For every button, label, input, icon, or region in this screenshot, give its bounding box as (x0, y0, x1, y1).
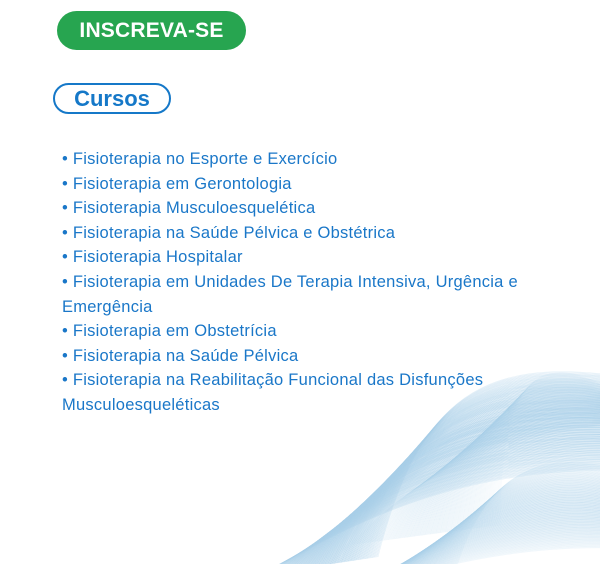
wave-line (419, 406, 600, 536)
wave-line (423, 478, 600, 564)
wave-line (277, 455, 600, 564)
wave-line (351, 394, 600, 561)
wave-line (331, 531, 600, 564)
wave-line (326, 415, 600, 564)
wave-line (428, 475, 600, 564)
wave-line (330, 412, 600, 564)
wave-line (325, 534, 600, 564)
wave-line (304, 433, 600, 564)
wave-line (448, 464, 600, 564)
wave-line (397, 493, 600, 564)
wave-line (421, 479, 600, 564)
wave-line (312, 541, 600, 564)
wave-line (384, 501, 600, 564)
wave-line (275, 456, 600, 564)
wave-line (417, 482, 600, 564)
wave-line (440, 468, 600, 564)
wave-line (301, 435, 600, 564)
wave-line (269, 461, 600, 564)
course-list-item: • Fisioterapia Musculoesquelética (62, 196, 532, 221)
wave-line (281, 451, 600, 564)
wave-line (311, 542, 600, 564)
wave-line (425, 477, 600, 564)
wave-line (301, 547, 600, 564)
wave-line (303, 546, 600, 564)
wave-line (339, 526, 600, 564)
wave-line (300, 436, 600, 564)
wave-line (324, 535, 600, 564)
wave-line (407, 410, 600, 537)
wave-line (410, 409, 600, 537)
wave-line (302, 435, 600, 564)
wave-line (346, 522, 600, 564)
wave-line (260, 469, 600, 564)
wave-line (368, 510, 600, 564)
wave-line (343, 401, 600, 562)
wave-line (352, 394, 600, 561)
wave-line (432, 401, 600, 534)
wave-line (322, 536, 600, 564)
wave-line (306, 432, 600, 564)
wave-line (386, 416, 600, 540)
wave-line (318, 421, 600, 564)
wave-line (364, 421, 600, 543)
wave-line (415, 408, 600, 537)
wave-line (437, 399, 600, 533)
wave-line (325, 416, 600, 564)
wave-line (409, 486, 600, 564)
wave-line (282, 451, 600, 564)
wave-line (327, 533, 600, 564)
wave-line (345, 399, 600, 562)
wave-line (348, 522, 600, 564)
wave-line (437, 470, 600, 564)
wave-line (385, 416, 600, 540)
wave-line (342, 402, 600, 562)
wave-line (280, 452, 600, 564)
wave-line (347, 398, 600, 562)
wave-line (305, 433, 600, 564)
wave-line (358, 516, 600, 564)
wave-line (340, 526, 600, 564)
wave-line (265, 464, 600, 564)
wave-line (299, 437, 600, 564)
wave-line (313, 541, 600, 564)
wave-line (426, 404, 600, 535)
wave-line (380, 503, 600, 564)
wave-line (373, 507, 600, 564)
wave-line (327, 414, 600, 564)
wave-line (379, 504, 600, 564)
wave-line (405, 411, 600, 538)
wave-line (367, 420, 600, 543)
wave-line (371, 419, 600, 542)
wave-line (307, 544, 600, 564)
wave-line (414, 483, 600, 564)
wave-line (426, 476, 600, 564)
wave-line (290, 445, 600, 564)
wave-line (421, 405, 600, 535)
wave-line (412, 409, 600, 537)
wave-line (334, 530, 600, 564)
wave-line (361, 422, 600, 544)
wave-line (411, 485, 600, 564)
wave-line (403, 411, 600, 538)
wave-line (280, 453, 600, 564)
wave-line (401, 491, 600, 564)
wave-line (276, 456, 600, 564)
wave-line (431, 474, 600, 564)
wave-line (272, 459, 600, 564)
wave-line (307, 431, 600, 564)
wave-line (325, 416, 600, 564)
wave-line (278, 454, 600, 564)
wave-line (395, 413, 600, 539)
wave-line (358, 422, 600, 544)
wave-line (279, 454, 600, 564)
wave-line (341, 525, 600, 564)
wave-line (406, 410, 600, 537)
wave-line (418, 481, 600, 564)
wave-line (340, 404, 600, 563)
wave-line (369, 509, 600, 564)
wave-line (410, 486, 600, 564)
wave-line (440, 398, 600, 533)
wave-line (435, 400, 600, 533)
wave-line (360, 514, 600, 564)
course-list-item: • Fisioterapia em Gerontologia (62, 172, 532, 197)
wave-line (349, 396, 600, 561)
wave-line (386, 500, 600, 564)
wave-line (401, 412, 600, 538)
page-root: INSCREVA-SE Cursos • Fisioterapia no Esp… (0, 0, 600, 564)
wave-line (418, 406, 600, 535)
wave-line (287, 447, 600, 564)
wave-line (350, 424, 600, 545)
wave-line (399, 492, 600, 564)
wave-line (450, 462, 600, 564)
wave-line (413, 484, 600, 564)
wave-line (268, 462, 600, 564)
wave-line (262, 467, 600, 564)
wave-line (412, 484, 600, 564)
wave-line (366, 420, 600, 543)
wave-line (264, 465, 600, 564)
wave-line (378, 505, 600, 564)
wave-line (381, 417, 600, 541)
wave-line (404, 411, 600, 538)
wave-line (374, 419, 600, 542)
wave-line (396, 494, 600, 564)
wave-line (303, 434, 600, 564)
wave-line (427, 476, 600, 564)
wave-line (372, 508, 600, 564)
wave-line (416, 483, 600, 564)
wave-line (335, 529, 600, 564)
wave-line (304, 546, 600, 564)
wave-line (414, 408, 600, 537)
wave-line (312, 426, 600, 564)
wave-line (391, 497, 600, 564)
wave-line (316, 424, 600, 564)
wave-line (293, 442, 600, 564)
wave-line (305, 545, 600, 564)
wave-line (334, 409, 600, 564)
wave-line (380, 417, 600, 541)
wave-line (441, 398, 600, 533)
wave-line (319, 537, 600, 564)
wave-line (413, 408, 600, 536)
wave-line (420, 480, 600, 564)
wave-line (331, 411, 600, 564)
wave-line (392, 496, 600, 564)
wave-line (318, 422, 600, 564)
wave-line (314, 425, 600, 564)
wave-line (262, 467, 600, 564)
wave-line (430, 402, 600, 534)
wave-line (366, 511, 600, 564)
wave-line (329, 413, 600, 564)
wave-line (321, 419, 600, 564)
wave-line (435, 471, 600, 564)
wave-line (405, 489, 600, 564)
wave-line (392, 414, 600, 539)
wave-line (350, 520, 600, 564)
wave-line (332, 410, 600, 564)
wave-line (442, 467, 600, 564)
enroll-button-label: INSCREVA-SE (79, 20, 223, 41)
wave-line (442, 398, 600, 533)
wave-line (428, 403, 600, 535)
wave-line (316, 539, 600, 564)
wave-line (288, 446, 600, 564)
wave-line (433, 401, 600, 534)
wave-line (318, 538, 600, 564)
wave-line (285, 449, 600, 564)
wave-line (323, 535, 600, 564)
wave-line (310, 428, 600, 564)
wave-line (362, 421, 600, 543)
wave-line (370, 509, 600, 564)
wave-line (323, 418, 600, 564)
course-list-item: • Fisioterapia na Saúde Pélvica (62, 344, 532, 369)
wave-line (319, 421, 600, 564)
wave-line (400, 491, 600, 564)
course-list-item: • Fisioterapia na Saúde Pélvica e Obstét… (62, 221, 532, 246)
wave-line (360, 422, 600, 544)
wave-line (420, 406, 600, 536)
wave-line (313, 426, 600, 564)
wave-line (355, 423, 600, 545)
wave-line (354, 423, 600, 544)
wave-line (439, 469, 600, 564)
wave-line (297, 439, 600, 564)
wave-line (258, 470, 600, 564)
wave-line (375, 418, 600, 541)
wave-line (434, 472, 600, 564)
wave-line (417, 407, 600, 536)
wave-line (364, 512, 600, 564)
wave-line (393, 496, 600, 564)
wave-line (328, 414, 600, 564)
wave-line (354, 518, 600, 564)
wave-line (344, 400, 600, 562)
wave-line (383, 501, 600, 564)
wave-line (357, 423, 600, 545)
wave-line (376, 506, 600, 564)
wave-line (382, 417, 600, 541)
wave-line (379, 417, 600, 541)
wave-line (391, 415, 600, 540)
section-badge-label: Cursos (74, 88, 150, 110)
wave-line (317, 538, 600, 564)
wave-line (259, 469, 600, 564)
wave-line (283, 450, 600, 564)
wave-line (308, 430, 600, 564)
wave-line (293, 442, 600, 564)
wave-line (387, 499, 600, 564)
wave-line (270, 460, 600, 564)
wave-line (425, 404, 600, 535)
wave-line (267, 463, 600, 564)
course-list-item: • Fisioterapia em Obstetrícia (62, 319, 532, 344)
wave-line (365, 512, 600, 564)
wave-line (433, 472, 600, 564)
wave-line (409, 409, 600, 537)
wave-line (406, 488, 600, 564)
wave-line (266, 464, 600, 564)
wave-line (351, 520, 600, 564)
wave-line (393, 414, 600, 539)
wave-line (326, 534, 600, 564)
wave-line (310, 543, 600, 564)
wave-line (350, 396, 600, 562)
wave-line (363, 513, 600, 564)
wave-line (300, 548, 600, 564)
wave-line (429, 403, 600, 535)
wave-line (387, 416, 600, 540)
wave-line (389, 415, 600, 540)
wave-line (345, 523, 600, 564)
wave-line (322, 419, 600, 564)
wave-line (371, 508, 600, 564)
wave-line (338, 527, 600, 564)
wave-line (315, 424, 600, 564)
wave-line (356, 517, 600, 564)
wave-line (396, 413, 600, 539)
wave-line (447, 464, 600, 564)
wave-line (353, 519, 600, 564)
wave-line (362, 514, 600, 564)
wave-line (314, 540, 600, 564)
course-list-item: • Fisioterapia na Reabilitação Funcional… (62, 368, 532, 417)
wave-line (311, 428, 600, 564)
wave-line (330, 531, 600, 564)
wave-line (399, 413, 600, 539)
wave-line (403, 490, 600, 564)
wave-line (329, 532, 600, 564)
wave-line (436, 400, 600, 534)
wave-line (432, 473, 600, 564)
wave-line (446, 465, 600, 564)
wave-line (343, 524, 600, 564)
wave-line (423, 405, 600, 536)
wave-line (395, 495, 600, 564)
wave-line (424, 478, 600, 564)
wave-line (341, 403, 600, 563)
wave-line (353, 423, 600, 544)
wave-line (346, 399, 600, 562)
wave-line (333, 409, 600, 563)
wave-line (404, 490, 600, 564)
wave-line (376, 418, 600, 541)
wave-line (306, 431, 600, 564)
wave-line (439, 399, 600, 533)
wave-line (427, 403, 600, 534)
wave-line (357, 516, 600, 564)
wave-line (335, 408, 600, 564)
wave-line (321, 537, 600, 564)
wave-line (367, 511, 600, 564)
wave-line (302, 547, 600, 564)
wave-line (438, 469, 600, 564)
wave-line (352, 519, 600, 564)
wave-line (344, 523, 600, 564)
wave-line (309, 543, 600, 564)
wave-line (296, 440, 600, 564)
wave-line (372, 419, 600, 542)
wave-line (422, 405, 600, 535)
wave-line (284, 449, 600, 564)
wave-line (328, 532, 600, 564)
wave-line (336, 528, 600, 564)
wave-line (274, 457, 600, 564)
wave-line (359, 422, 600, 544)
wave-line (388, 415, 600, 540)
wave-line (444, 466, 600, 564)
enroll-button[interactable]: INSCREVA-SE (57, 11, 246, 50)
wave-line (263, 466, 600, 564)
section-badge-cursos: Cursos (53, 83, 171, 114)
wave-line (337, 528, 600, 564)
wave-line (449, 463, 600, 564)
wave-line (324, 417, 600, 564)
wave-line (309, 429, 600, 564)
course-list-item: • Fisioterapia no Esporte e Exercício (62, 147, 532, 172)
wave-line (292, 443, 600, 564)
wave-line (416, 407, 600, 536)
wave-line (337, 406, 600, 563)
wave-line (336, 407, 600, 563)
wave-line (445, 465, 600, 564)
wave-line (331, 411, 600, 564)
wave-line (286, 448, 600, 564)
wave-line (377, 505, 600, 564)
wave-line (407, 488, 600, 564)
wave-line (385, 500, 600, 564)
wave-line (434, 401, 600, 534)
wave-line (339, 404, 600, 562)
wave-line (390, 498, 600, 564)
wave-line (308, 544, 600, 564)
wave-line (299, 438, 600, 564)
wave-line (394, 414, 600, 539)
wave-line (348, 397, 600, 561)
wave-line (373, 419, 600, 542)
wave-line (389, 498, 600, 564)
wave-line (382, 502, 600, 564)
wave-line (287, 447, 600, 564)
